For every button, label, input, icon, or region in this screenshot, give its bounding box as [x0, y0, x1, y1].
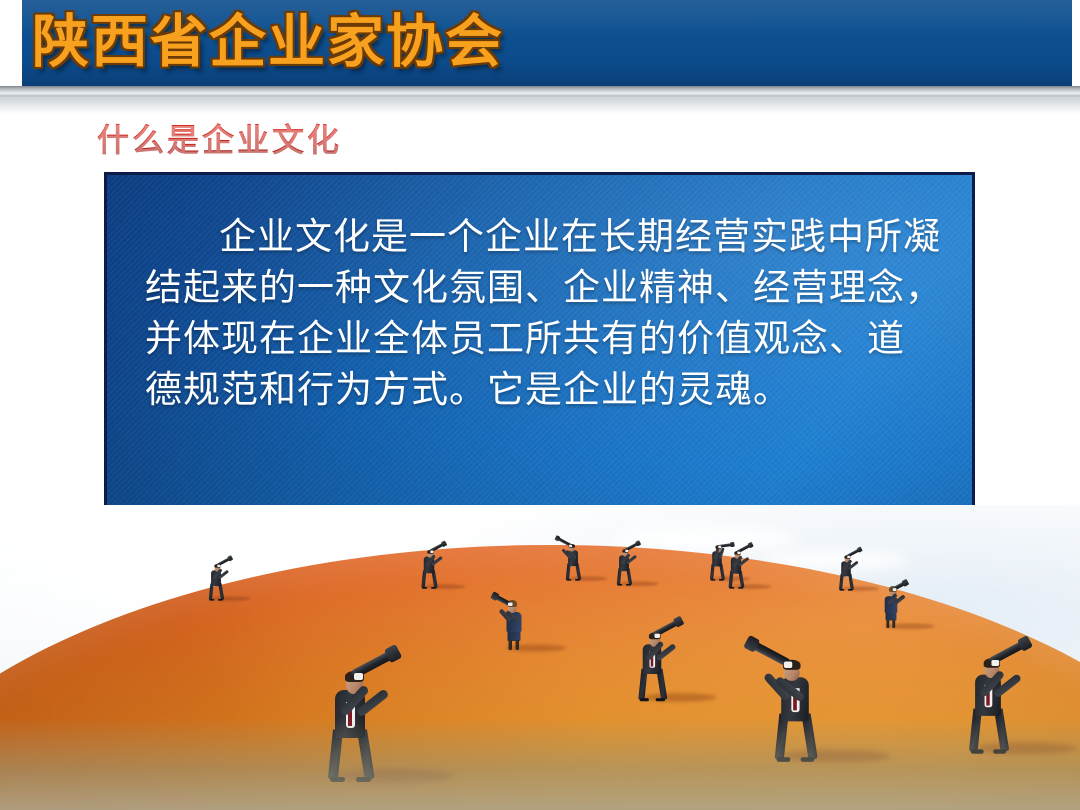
content-line-1: 企业文化是一个企业在长期经营实践中所凝 [145, 211, 944, 262]
figure-shoe [711, 579, 716, 581]
content-line-4: 德规范和行为方式。它是企业的灵魂。 [145, 364, 944, 415]
slide-root: 陕西省企业家协会 什么是企业文化 企业文化是一个企业在长期经营实践中所凝 结起来… [0, 0, 1080, 810]
figure-cuff [354, 673, 363, 680]
figure-shoe [330, 777, 345, 782]
figure-shoe [626, 584, 631, 586]
figure-cuff [991, 660, 999, 666]
figure-shoe [840, 589, 845, 591]
content-line-2: 结起来的一种文化氛围、企业精神、经营理念， [145, 262, 944, 313]
figure-shoe [575, 579, 580, 581]
illustration-businessmen-telescopes [0, 505, 1080, 810]
figure-leg [516, 640, 520, 650]
figure-shoe [640, 698, 649, 701]
page-title: 陕西省企业家协会 [32, 8, 504, 76]
header-divider-fade [0, 98, 1080, 114]
figure-shoe [218, 599, 223, 601]
header-banner: 陕西省企业家协会 [22, 0, 1072, 86]
figure-shoe [566, 579, 571, 581]
figure-cuff [569, 545, 572, 547]
figure-cuff [217, 565, 220, 567]
figure-shoe [656, 698, 665, 701]
figure-cuff [784, 662, 792, 668]
figure-shoe [209, 599, 214, 601]
content-panel-text: 企业文化是一个企业在长期经营实践中所凝 结起来的一种文化氛围、企业精神、经营理念… [145, 211, 944, 415]
figure-cuff [893, 588, 897, 591]
section-heading: 什么是企业文化 [97, 118, 342, 162]
figure-shoe [738, 587, 743, 589]
figure-leg [886, 620, 889, 628]
figure-cuff [508, 603, 513, 607]
figure-shoe [431, 587, 436, 589]
figure-shoe [719, 579, 724, 581]
figure-shoe [848, 589, 853, 591]
figure-cuff [718, 546, 721, 548]
figure-shoe [777, 757, 791, 762]
header-right-gutter [1072, 0, 1080, 86]
figure-shoe [422, 587, 427, 589]
figure-shoe [617, 584, 622, 586]
header-divider-bar [0, 86, 1080, 98]
figure-shoe [729, 587, 734, 589]
content-panel: 企业文化是一个企业在长期经营实践中所凝 结起来的一种文化氛围、企业精神、经营理念… [104, 172, 975, 523]
figure-cuff [737, 552, 740, 554]
figure-shoe [801, 757, 815, 762]
figure-cuff [847, 556, 850, 558]
figure-cuff [430, 551, 433, 553]
figure-cuff [625, 550, 628, 552]
figure-shoe [993, 749, 1006, 753]
content-line-3: 并体现在企业全体员工所共有的价值观念、道 [145, 313, 944, 364]
figure-leg [892, 620, 895, 628]
figure-shoe [971, 749, 984, 753]
header-left-gutter [0, 0, 22, 86]
figure-shoe [356, 777, 371, 782]
figure-leg [509, 640, 513, 650]
figure-cuff [654, 634, 660, 638]
